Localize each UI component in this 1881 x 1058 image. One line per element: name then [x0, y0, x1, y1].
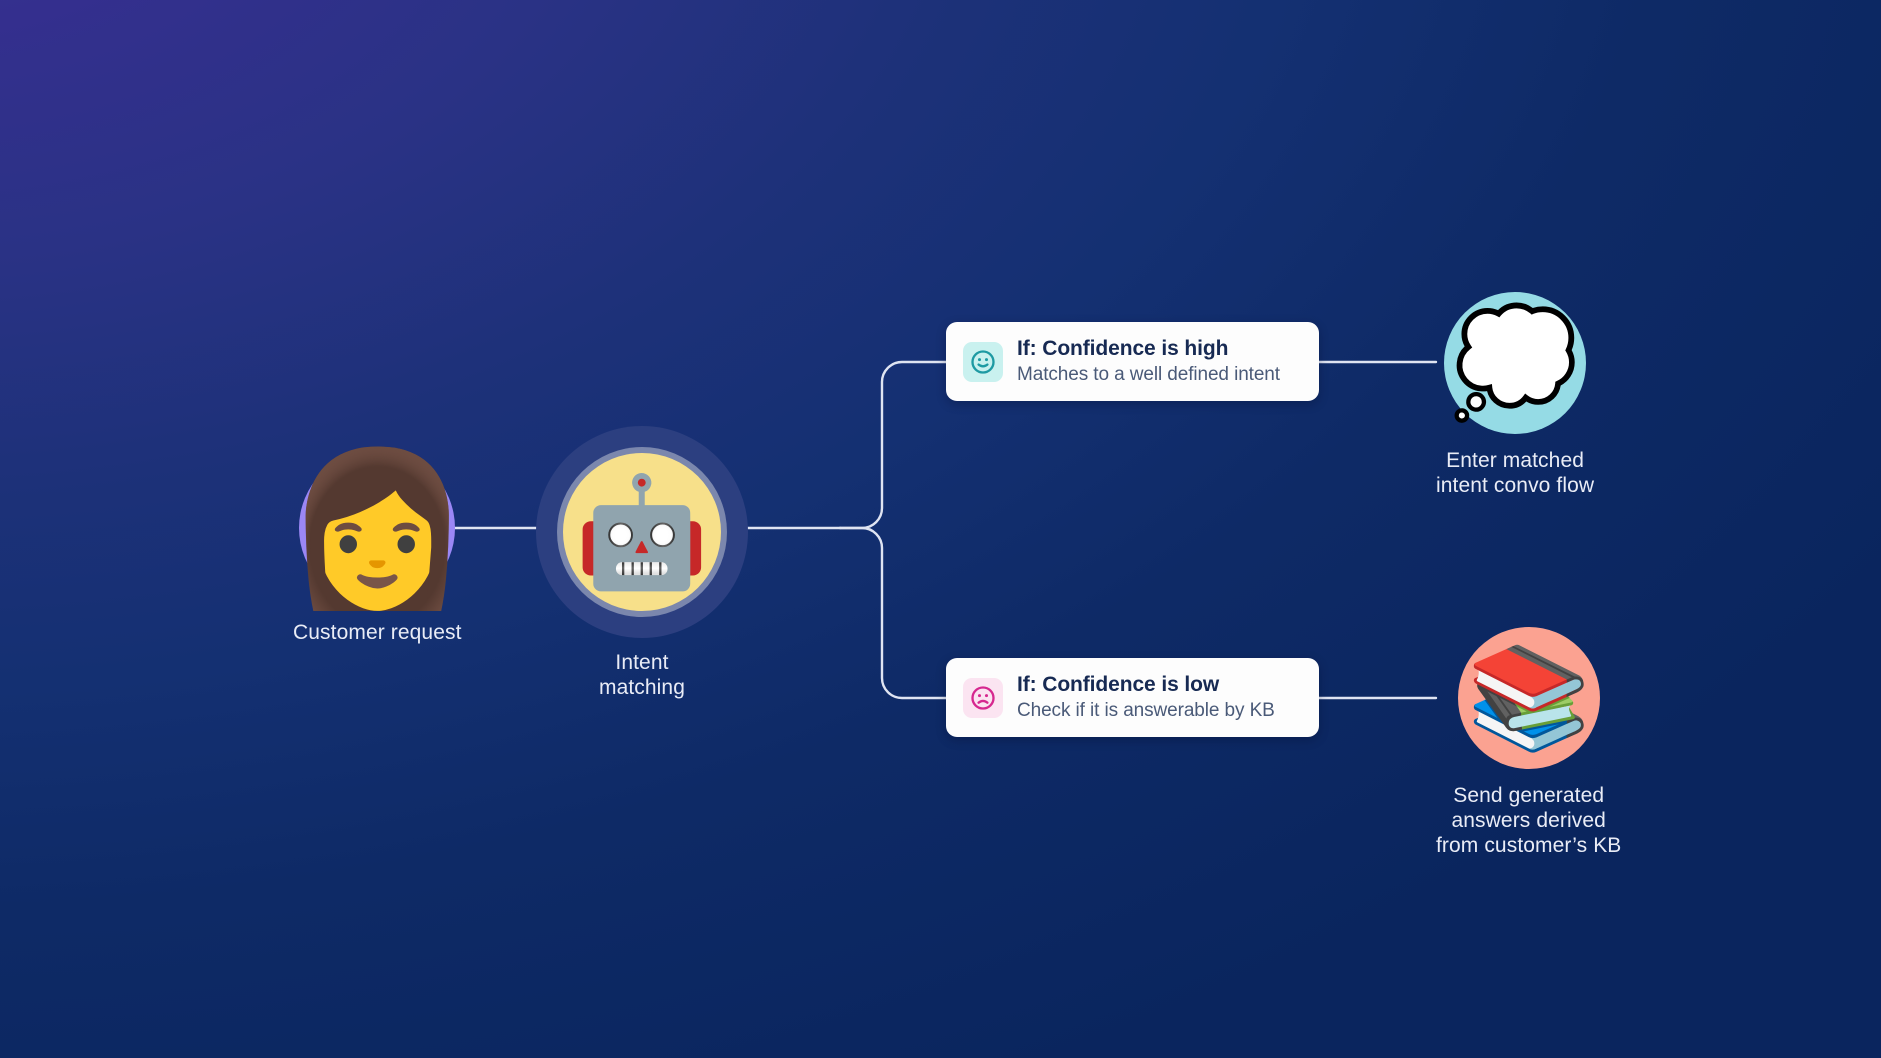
- connector-lines: [0, 0, 1881, 1058]
- card-subtitle: Check if it is answerable by KB: [1017, 698, 1275, 723]
- customer-avatar: 👩: [299, 450, 455, 606]
- node-label-matched-intent-flow: Enter matched intent convo flow: [1436, 448, 1594, 498]
- frowning-face-icon-tile: [963, 678, 1003, 718]
- card-title: If: Confidence is high: [1017, 336, 1280, 362]
- card-confidence-low[interactable]: If: Confidence is low Check if it is ans…: [946, 658, 1319, 737]
- card-confidence-low-text: If: Confidence is low Check if it is ans…: [1017, 672, 1275, 723]
- node-matched-intent-flow[interactable]: 💭 Enter matched intent convo flow: [1436, 292, 1594, 498]
- books-circle: 📚: [1458, 627, 1600, 769]
- node-intent-matching[interactable]: 🤖 Intent matching: [536, 426, 748, 700]
- node-label-intent-matching: Intent matching: [599, 650, 685, 700]
- smiling-face-icon-tile: [963, 342, 1003, 382]
- thought-balloon-emoji: 💭: [1450, 311, 1580, 415]
- node-kb-generated-answers[interactable]: 📚 Send generated answers derived from cu…: [1436, 627, 1621, 858]
- card-confidence-high-text: If: Confidence is high Matches to a well…: [1017, 336, 1280, 387]
- node-customer-request[interactable]: 👩 Customer request: [293, 450, 462, 645]
- robot-avatar: 🤖: [563, 453, 721, 611]
- books-emoji: 📚: [1466, 648, 1591, 748]
- node-label-customer-request: Customer request: [293, 620, 462, 645]
- frowning-face-icon: [969, 684, 997, 712]
- robot-emoji: 🤖: [575, 478, 709, 586]
- smiling-face-icon: [969, 348, 997, 376]
- robot-halo-outer: 🤖: [536, 426, 748, 638]
- card-title: If: Confidence is low: [1017, 672, 1275, 698]
- node-label-kb-generated-answers: Send generated answers derived from cust…: [1436, 783, 1621, 858]
- customer-avatar-emoji: 👩: [284, 453, 471, 603]
- diagram-canvas: 👩 Customer request 🤖 Intent matching If:…: [0, 0, 1881, 1058]
- wire-branch-down: [840, 528, 946, 698]
- robot-halo-inner: 🤖: [557, 447, 727, 617]
- card-confidence-high[interactable]: If: Confidence is high Matches to a well…: [946, 322, 1319, 401]
- wire-branch-up: [840, 362, 946, 528]
- thought-balloon-circle: 💭: [1444, 292, 1586, 434]
- card-subtitle: Matches to a well defined intent: [1017, 362, 1280, 387]
